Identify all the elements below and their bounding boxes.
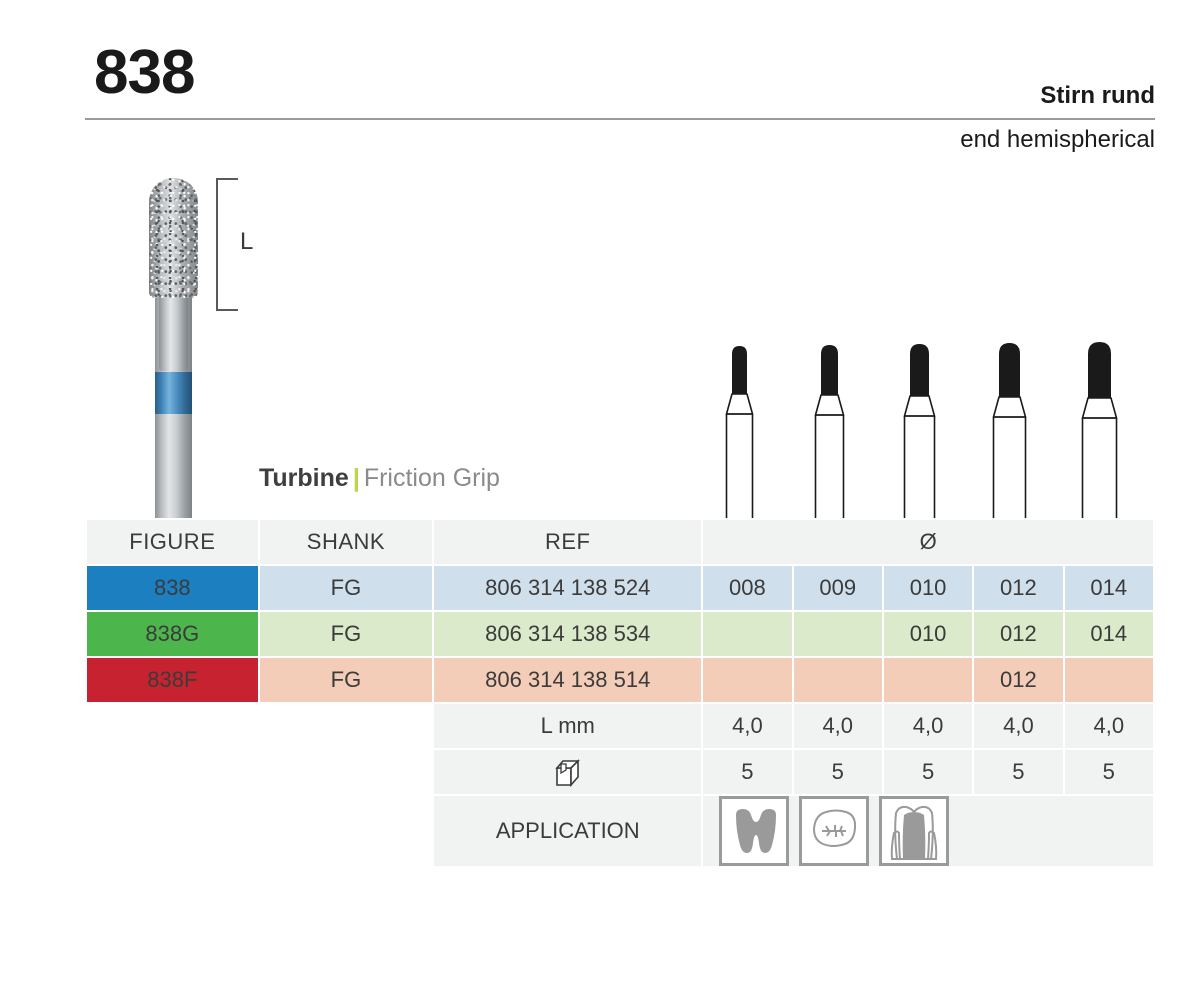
column-header-ref: REF	[434, 520, 701, 564]
box-icon	[434, 750, 701, 794]
diameter-cell-838f-3: 012	[974, 658, 1062, 702]
pack-value-3: 5	[974, 750, 1062, 794]
pack-value-4: 5	[1065, 750, 1153, 794]
table-row[interactable]: 838 FG 806 314 138 524 008 009 010 012 0…	[87, 566, 1153, 610]
diamond-head-icon	[149, 178, 198, 298]
diameter-cell-838-2: 010	[884, 566, 972, 610]
length-label: L	[240, 228, 253, 256]
title-english: end hemispherical	[960, 126, 1155, 154]
page-header: 838 Stirn rund end hemispherical	[85, 40, 1155, 170]
crown-preparation-icon	[879, 796, 949, 866]
length-value-4: 4,0	[1065, 704, 1153, 748]
length-value-1: 4,0	[794, 704, 882, 748]
table-row[interactable]: 838F FG 806 314 138 514 012	[87, 658, 1153, 702]
bur-neck	[159, 293, 188, 371]
length-value-2: 4,0	[884, 704, 972, 748]
shank-cell-838g: FG	[260, 612, 433, 656]
bur-silhouette-009	[792, 340, 882, 518]
occlusal-fissure-icon	[799, 796, 869, 866]
diameter-cell-838-0: 008	[703, 566, 791, 610]
length-value-3: 4,0	[974, 704, 1062, 748]
diameter-cell-838f-4	[1065, 658, 1153, 702]
title-german: Stirn rund	[1040, 82, 1155, 110]
pack-value-0: 5	[703, 750, 791, 794]
spacer-cell	[260, 704, 433, 748]
column-header-figure: FIGURE	[87, 520, 258, 564]
working-length-bracket	[216, 178, 238, 311]
bur-silhouette-012	[972, 340, 1062, 518]
figure-cell-838[interactable]: 838	[87, 566, 258, 610]
shank-type-label: Turbine|Friction Grip	[259, 464, 500, 493]
bur-illustration: L	[130, 168, 280, 518]
bur-silhouette-008	[702, 340, 792, 518]
diameter-cell-838g-0	[703, 612, 791, 656]
diameter-cell-838g-3: 012	[974, 612, 1062, 656]
diameter-cell-838-1: 009	[794, 566, 882, 610]
ref-cell-838f: 806 314 138 514	[434, 658, 701, 702]
table-row[interactable]: 838G FG 806 314 138 534 010 012 014	[87, 612, 1153, 656]
size-silhouette-group	[702, 340, 1155, 518]
shank-cell-838: FG	[260, 566, 433, 610]
pack-value-1: 5	[794, 750, 882, 794]
shank-type-secondary: Friction Grip	[364, 464, 500, 492]
spacer-cell	[260, 796, 433, 866]
diameter-cell-838f-2	[884, 658, 972, 702]
page-title: 838	[94, 42, 194, 104]
spacer-cell	[87, 796, 258, 866]
ref-cell-838: 806 314 138 524	[434, 566, 701, 610]
diameter-cell-838f-0	[703, 658, 791, 702]
diameter-cell-838-4: 014	[1065, 566, 1153, 610]
spacer-cell	[260, 750, 433, 794]
shank-type-primary: Turbine	[259, 464, 349, 492]
application-icon-group	[703, 796, 1153, 866]
header-divider	[85, 118, 1155, 120]
diameter-cell-838-3: 012	[974, 566, 1062, 610]
specification-table: FIGURE SHANK REF Ø 838 FG 806 314 138 52…	[85, 518, 1155, 868]
diameter-cell-838g-4: 014	[1065, 612, 1153, 656]
bur-color-ring	[155, 372, 192, 414]
diameter-cell-838f-1	[794, 658, 882, 702]
application-row: APPLICATION	[87, 796, 1153, 866]
figure-cell-838g[interactable]: 838G	[87, 612, 258, 656]
shank-type-separator: |	[349, 464, 364, 492]
tooth-cavity-prep-icon	[719, 796, 789, 866]
column-header-shank: SHANK	[260, 520, 433, 564]
figure-cell-838f[interactable]: 838F	[87, 658, 258, 702]
spacer-cell	[87, 704, 258, 748]
length-row-label: L mm	[434, 704, 701, 748]
bur-silhouette-010	[882, 340, 972, 518]
application-label: APPLICATION	[434, 796, 701, 866]
bur-silhouette-014	[1062, 340, 1152, 518]
pack-quantity-row: 5 5 5 5 5	[87, 750, 1153, 794]
pack-value-2: 5	[884, 750, 972, 794]
length-value-0: 4,0	[703, 704, 791, 748]
ref-cell-838g: 806 314 138 534	[434, 612, 701, 656]
diameter-cell-838g-2: 010	[884, 612, 972, 656]
spacer-cell	[87, 750, 258, 794]
table-header-row: FIGURE SHANK REF Ø	[87, 520, 1153, 564]
shank-cell-838f: FG	[260, 658, 433, 702]
length-row: L mm 4,0 4,0 4,0 4,0 4,0	[87, 704, 1153, 748]
diameter-cell-838g-1	[794, 612, 882, 656]
column-header-diameter: Ø	[703, 520, 1153, 564]
